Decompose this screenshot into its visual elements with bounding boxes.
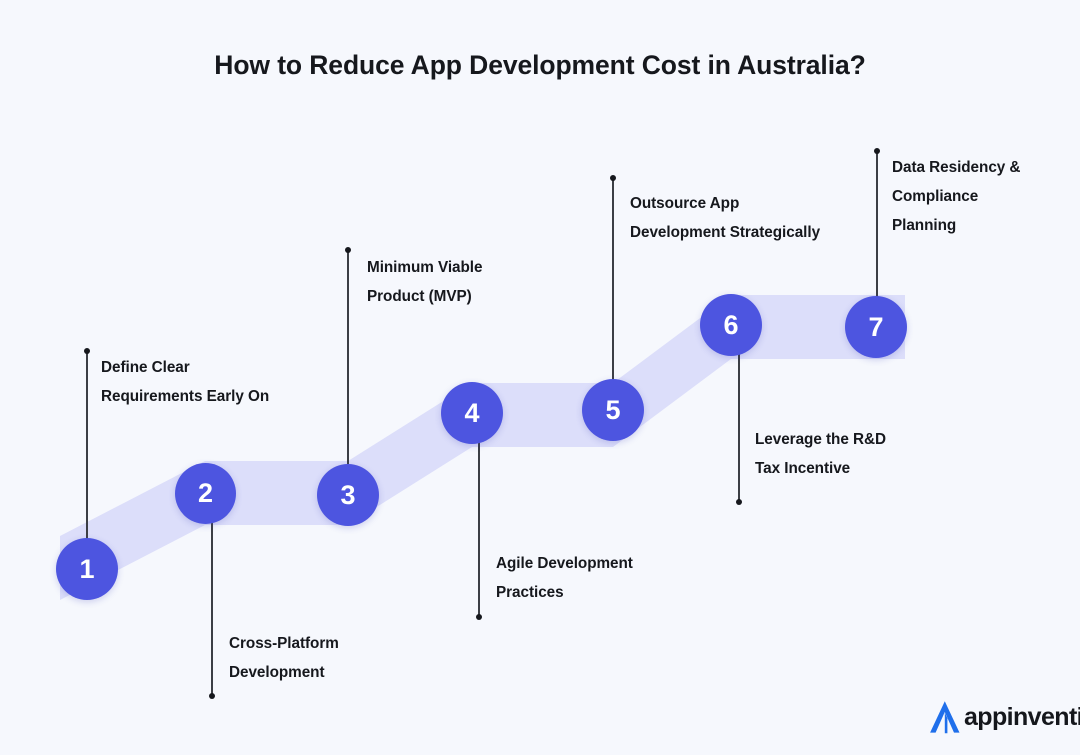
step-label-2: Cross-Platform Development (229, 629, 339, 687)
step-number-1: 1 (79, 556, 94, 583)
step-number-4: 4 (464, 400, 479, 427)
step-number-7: 7 (868, 314, 883, 341)
step-label-1: Define Clear Requirements Early On (101, 353, 269, 411)
step-number-5: 5 (605, 397, 620, 424)
page-title: How to Reduce App Development Cost in Au… (0, 50, 1080, 82)
connector-line-4 (478, 441, 480, 618)
step-number-2: 2 (198, 480, 213, 507)
step-circle-4[interactable]: 4 (441, 382, 503, 444)
connector-dot-7 (874, 148, 880, 154)
step-circle-3[interactable]: 3 (317, 464, 379, 526)
step-label-3: Minimum Viable Product (MVP) (367, 253, 482, 311)
step-circle-2[interactable]: 2 (175, 463, 236, 524)
step-circle-6[interactable]: 6 (700, 294, 762, 356)
infographic-canvas: How to Reduce App Development Cost in Au… (0, 0, 1080, 755)
step-number-6: 6 (723, 312, 738, 339)
step-circle-7[interactable]: 7 (845, 296, 907, 358)
step-label-6: Leverage the R&D Tax Incentive (755, 425, 886, 483)
step-circle-1[interactable]: 1 (56, 538, 118, 600)
connector-line-2 (211, 521, 213, 697)
connector-line-7 (876, 150, 878, 305)
connector-dot-1 (84, 348, 90, 354)
connector-line-3 (347, 249, 349, 467)
connector-dot-3 (345, 247, 351, 253)
step-label-5: Outsource App Development Strategically (630, 189, 820, 247)
step-label-7: Data Residency & Compliance Planning (892, 153, 1020, 240)
step-circle-5[interactable]: 5 (582, 379, 644, 441)
connector-dot-4 (476, 614, 482, 620)
connector-line-6 (738, 352, 740, 503)
appinventiv-logo[interactable]: appinventiv (928, 699, 1080, 735)
connector-dot-5 (610, 175, 616, 181)
logo-wordmark: appinventiv (964, 705, 1080, 730)
step-number-3: 3 (340, 482, 355, 509)
connector-line-5 (612, 177, 614, 383)
connector-dot-6 (736, 499, 742, 505)
connector-line-1 (86, 350, 88, 540)
step-label-4: Agile Development Practices (496, 549, 633, 607)
connector-dot-2 (209, 693, 215, 699)
appinventiv-a-mark-icon (928, 699, 961, 735)
